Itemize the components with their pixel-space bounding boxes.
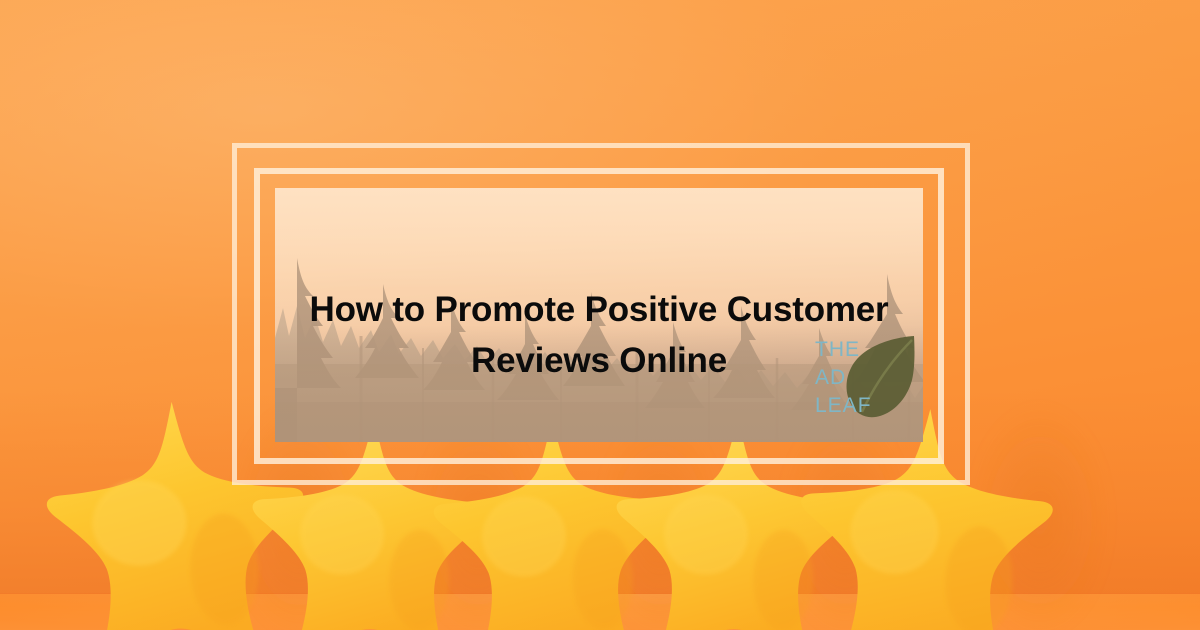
page-title: How to Promote Positive Customer Reviews… xyxy=(275,285,923,387)
page-title-line-2: Reviews Online xyxy=(275,336,923,387)
featured-image-canvas: THE AD LEAF How to Promote Positive Cust… xyxy=(0,0,1200,630)
page-title-line-1: How to Promote Positive Customer xyxy=(310,290,889,329)
